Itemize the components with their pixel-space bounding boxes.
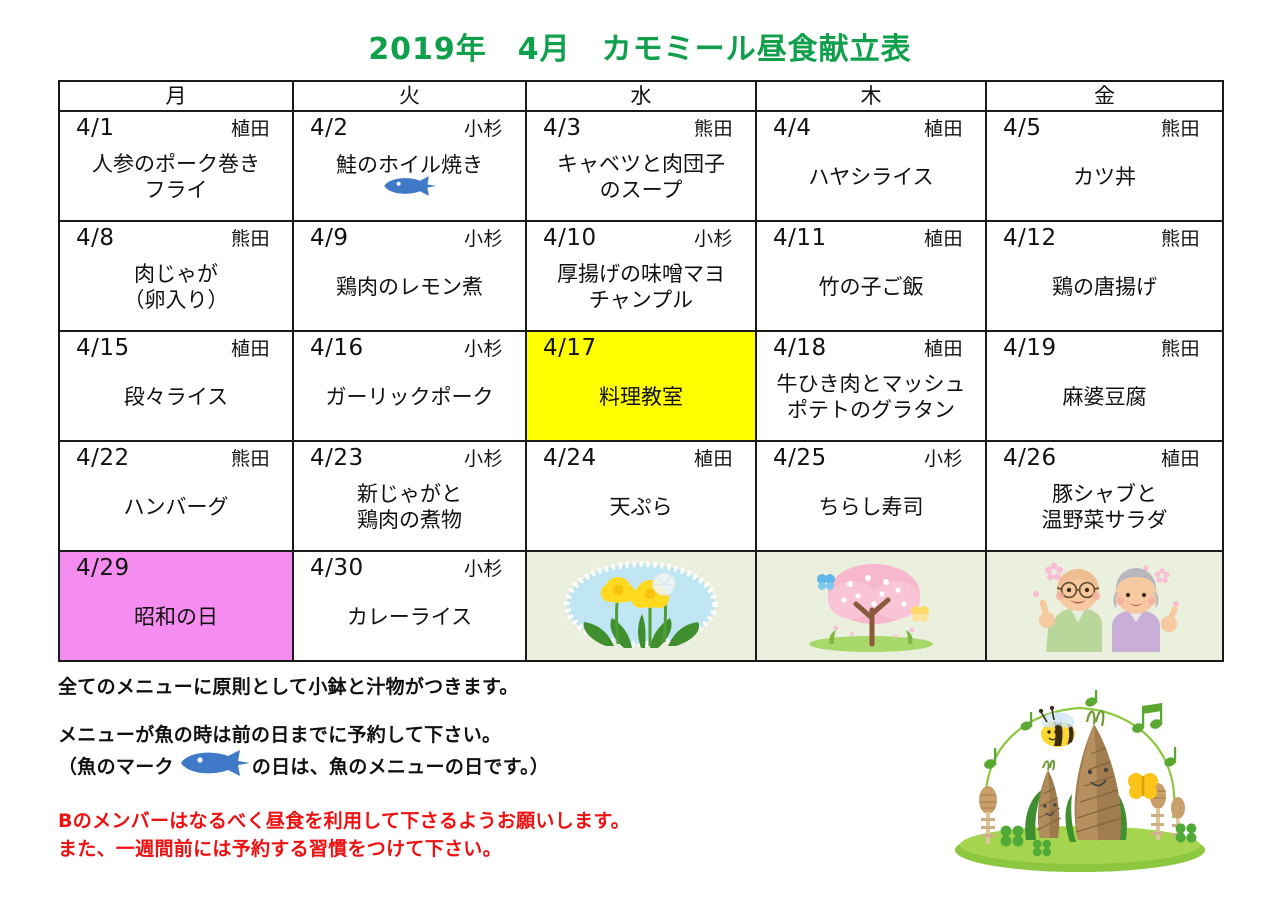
calendar-day-cell-4-29: 4/29昭和の日 xyxy=(59,551,293,661)
day-date: 4/23 xyxy=(310,445,364,471)
day-date: 4/17 xyxy=(543,335,597,361)
cherry-blossom-tree-illustration xyxy=(756,551,986,661)
day-staff-name: 小杉 xyxy=(464,226,507,252)
page-title: 2019年 4月 カモミール昼食献立表 xyxy=(0,24,1280,68)
day-cell-body: 4/18植田牛ひき肉とマッシュポテトのグラタン xyxy=(757,332,985,440)
illustration-wrapper xyxy=(527,552,755,660)
day-cell-body: 4/2小杉鮭のホイル焼き xyxy=(294,112,525,220)
day-date: 4/2 xyxy=(310,115,349,141)
menu-line: 人参のポーク巻き xyxy=(92,151,260,177)
note-b-members: Bのメンバーはなるべく昼食を利用して下さるようお願いします。 xyxy=(58,807,818,835)
day-menu: 料理教室 xyxy=(537,361,745,436)
calendar-day-cell-4-30: 4/30小杉カレーライス xyxy=(293,551,526,661)
menu-line: ちらし寿司 xyxy=(819,494,924,520)
column-header-tuesday: 火 xyxy=(293,81,526,111)
calendar-day-cell-4-24: 4/24植田天ぷら xyxy=(526,441,756,551)
menu-line: カレーライス xyxy=(347,604,472,630)
day-cell-body: 4/30小杉カレーライス xyxy=(294,552,525,660)
calendar-day-cell-4-4: 4/4植田ハヤシライス xyxy=(756,111,986,221)
day-header: 4/18植田 xyxy=(767,335,975,362)
calendar-week-row: 4/22熊田ハンバーグ4/23小杉新じゃがと鶏肉の煮物4/24植田天ぷら4/25… xyxy=(59,441,1223,551)
day-header: 4/17 xyxy=(537,335,745,361)
fish-icon xyxy=(382,176,438,202)
calendar-day-cell-4-5: 4/5熊田カツ丼 xyxy=(986,111,1223,221)
day-menu: 天ぷら xyxy=(537,472,745,546)
menu-calendar-table: 月 火 水 木 金 4/1植田人参のポーク巻きフライ4/2小杉鮭のホイル焼き4/… xyxy=(58,80,1224,662)
menu-line: フライ xyxy=(145,177,208,203)
day-staff-name: 小杉 xyxy=(464,336,507,362)
day-header: 4/2小杉 xyxy=(304,115,515,142)
day-header: 4/4植田 xyxy=(767,115,975,142)
menu-line: のスープ xyxy=(600,177,683,203)
day-cell-body: 4/8熊田肉じゃが（卵入り） xyxy=(60,222,292,330)
day-date: 4/29 xyxy=(76,555,130,581)
day-cell-body: 4/16小杉ガーリックポーク xyxy=(294,332,525,440)
menu-line: 料理教室 xyxy=(599,384,683,410)
day-staff-name: 小杉 xyxy=(464,556,507,582)
day-date: 4/18 xyxy=(773,335,827,361)
day-cell-body: 4/12熊田鶏の唐揚げ xyxy=(987,222,1222,330)
day-menu: 牛ひき肉とマッシュポテトのグラタン xyxy=(767,362,975,436)
menu-line: 鮭のホイル焼き xyxy=(336,152,483,178)
menu-line: キャベツと肉団子 xyxy=(557,151,725,177)
day-cell-body: 4/4植田ハヤシライス xyxy=(757,112,985,220)
day-staff-name: 熊田 xyxy=(231,446,274,472)
calendar-day-cell-4-16: 4/16小杉ガーリックポーク xyxy=(293,331,526,441)
day-header: 4/30小杉 xyxy=(304,555,515,582)
calendar-day-cell-4-25: 4/25小杉ちらし寿司 xyxy=(756,441,986,551)
day-date: 4/24 xyxy=(543,445,597,471)
day-staff-name: 植田 xyxy=(924,336,967,362)
menu-line: 鶏肉の煮物 xyxy=(357,507,462,533)
day-date: 4/1 xyxy=(76,115,115,141)
calendar-day-cell-4-22: 4/22熊田ハンバーグ xyxy=(59,441,293,551)
fish-icon xyxy=(178,750,252,781)
menu-line: ハンバーグ xyxy=(124,494,229,520)
calendar-day-cell-4-3: 4/3熊田キャベツと肉団子のスープ xyxy=(526,111,756,221)
day-header: 4/1植田 xyxy=(70,115,282,142)
day-menu: カレーライス xyxy=(304,582,515,656)
day-cell-body: 4/19熊田麻婆豆腐 xyxy=(987,332,1222,440)
calendar-day-cell-4-10: 4/10小杉厚揚げの味噌マヨチャンプル xyxy=(526,221,756,331)
illustration-wrapper xyxy=(757,552,985,660)
day-menu: カツ丼 xyxy=(997,142,1212,216)
calendar-day-cell-4-15: 4/15植田段々ライス xyxy=(59,331,293,441)
day-cell-body: 4/10小杉厚揚げの味噌マヨチャンプル xyxy=(527,222,755,330)
menu-line: （卵入り） xyxy=(124,287,229,313)
day-staff-name: 熊田 xyxy=(694,116,737,142)
menu-line: 厚揚げの味噌マヨ xyxy=(557,261,725,287)
day-header: 4/29 xyxy=(70,555,282,581)
day-date: 4/25 xyxy=(773,445,827,471)
note-fish-mark-prefix: （魚のマーク xyxy=(58,752,174,779)
day-date: 4/22 xyxy=(76,445,130,471)
day-menu: 鮭のホイル焼き xyxy=(304,142,515,216)
day-header: 4/22熊田 xyxy=(70,445,282,472)
day-cell-body: 4/29昭和の日 xyxy=(60,552,292,660)
menu-line: 温野菜サラダ xyxy=(1042,507,1168,533)
day-date: 4/26 xyxy=(1003,445,1057,471)
day-menu: ちらし寿司 xyxy=(767,472,975,546)
day-menu: 肉じゃが（卵入り） xyxy=(70,252,282,326)
day-header: 4/16小杉 xyxy=(304,335,515,362)
dandelion-illustration xyxy=(526,551,756,661)
day-date: 4/9 xyxy=(310,225,349,251)
note-fish-mark-suffix: の日は、魚のメニューの日です。） xyxy=(252,752,549,779)
calendar-day-cell-4-12: 4/12熊田鶏の唐揚げ xyxy=(986,221,1223,331)
calendar-day-cell-4-11: 4/11植田竹の子ご飯 xyxy=(756,221,986,331)
day-header: 4/25小杉 xyxy=(767,445,975,472)
column-header-monday: 月 xyxy=(59,81,293,111)
day-menu: 人参のポーク巻きフライ xyxy=(70,142,282,216)
yellow-butterfly-icon xyxy=(911,606,929,622)
day-date: 4/4 xyxy=(773,115,812,141)
day-header: 4/3熊田 xyxy=(537,115,745,142)
day-date: 4/3 xyxy=(543,115,582,141)
menu-line: 新じゃがと xyxy=(357,481,462,507)
calendar-day-cell-4-18: 4/18植田牛ひき肉とマッシュポテトのグラタン xyxy=(756,331,986,441)
menu-line: チャンプル xyxy=(589,287,693,313)
day-header: 4/23小杉 xyxy=(304,445,515,472)
note-side-dishes: 全てのメニューに原則として小鉢と汁物がつきます。 xyxy=(58,672,818,702)
column-header-thursday: 木 xyxy=(756,81,986,111)
butterfly-icon xyxy=(1128,773,1158,799)
day-cell-body: 4/22熊田ハンバーグ xyxy=(60,442,292,550)
day-header: 4/5熊田 xyxy=(997,115,1212,142)
day-header: 4/19熊田 xyxy=(997,335,1212,362)
day-staff-name: 熊田 xyxy=(1161,116,1204,142)
day-date: 4/16 xyxy=(310,335,364,361)
day-menu: ガーリックポーク xyxy=(304,362,515,436)
day-cell-body: 4/25小杉ちらし寿司 xyxy=(757,442,985,550)
day-menu: 昭和の日 xyxy=(70,581,282,656)
calendar-week-row: 4/29昭和の日4/30小杉カレーライス xyxy=(59,551,1223,661)
day-staff-name: 小杉 xyxy=(694,226,737,252)
day-date: 4/5 xyxy=(1003,115,1042,141)
day-menu: 新じゃがと鶏肉の煮物 xyxy=(304,472,515,546)
day-menu: 麻婆豆腐 xyxy=(997,362,1212,436)
day-cell-body: 4/11植田竹の子ご飯 xyxy=(757,222,985,330)
day-cell-body: 4/26植田豚シャブと温野菜サラダ xyxy=(987,442,1222,550)
day-cell-body: 4/24植田天ぷら xyxy=(527,442,755,550)
table-header-row: 月 火 水 木 金 xyxy=(59,81,1223,111)
calendar-body: 4/1植田人参のポーク巻きフライ4/2小杉鮭のホイル焼き4/3熊田キャベツと肉団… xyxy=(59,111,1223,661)
menu-line: ガーリックポーク xyxy=(326,384,494,410)
day-header: 4/8熊田 xyxy=(70,225,282,252)
day-staff-name: 小杉 xyxy=(464,116,507,142)
note-fish-reservation: メニューが魚の時は前の日までに予約して下さい。 xyxy=(58,720,818,750)
menu-line: 天ぷら xyxy=(610,494,673,520)
calendar-day-cell-4-1: 4/1植田人参のポーク巻きフライ xyxy=(59,111,293,221)
calendar-day-cell-4-8: 4/8熊田肉じゃが（卵入り） xyxy=(59,221,293,331)
day-header: 4/10小杉 xyxy=(537,225,745,252)
day-staff-name: 小杉 xyxy=(924,446,967,472)
day-menu: 鶏肉のレモン煮 xyxy=(304,252,515,326)
day-cell-body: 4/9小杉鶏肉のレモン煮 xyxy=(294,222,525,330)
day-header: 4/24植田 xyxy=(537,445,745,472)
day-staff-name: 熊田 xyxy=(1161,226,1204,252)
menu-line: 昭和の日 xyxy=(134,604,218,630)
menu-line: 麻婆豆腐 xyxy=(1063,384,1147,410)
day-staff-name: 植田 xyxy=(231,336,274,362)
calendar-week-row: 4/8熊田肉じゃが（卵入り）4/9小杉鶏肉のレモン煮4/10小杉厚揚げの味噌マヨ… xyxy=(59,221,1223,331)
day-cell-body: 4/1植田人参のポーク巻きフライ xyxy=(60,112,292,220)
day-header: 4/26植田 xyxy=(997,445,1212,472)
day-cell-body: 4/3熊田キャベツと肉団子のスープ xyxy=(527,112,755,220)
note-fish-mark-legend: （魚のマーク の日は、魚のメニューの日です。） xyxy=(58,750,818,781)
calendar-week-row: 4/1植田人参のポーク巻きフライ4/2小杉鮭のホイル焼き4/3熊田キャベツと肉団… xyxy=(59,111,1223,221)
day-header: 4/9小杉 xyxy=(304,225,515,252)
day-staff-name: 植田 xyxy=(924,116,967,142)
menu-line: 鶏の唐揚げ xyxy=(1052,274,1157,300)
day-date: 4/19 xyxy=(1003,335,1057,361)
calendar-day-cell-4-9: 4/9小杉鶏肉のレモン煮 xyxy=(293,221,526,331)
day-header: 4/11植田 xyxy=(767,225,975,252)
calendar-day-cell-4-26: 4/26植田豚シャブと温野菜サラダ xyxy=(986,441,1223,551)
illustration-wrapper xyxy=(987,552,1222,660)
calendar-day-cell-4-19: 4/19熊田麻婆豆腐 xyxy=(986,331,1223,441)
day-staff-name: 植田 xyxy=(231,116,274,142)
menu-line: カツ丼 xyxy=(1073,164,1136,190)
menu-line: ポテトのグラタン xyxy=(787,397,955,423)
menu-line: 肉じゃが xyxy=(134,261,218,287)
day-menu: 厚揚げの味噌マヨチャンプル xyxy=(537,252,745,326)
day-cell-body: 4/15植田段々ライス xyxy=(60,332,292,440)
day-date: 4/11 xyxy=(773,225,827,251)
day-header: 4/12熊田 xyxy=(997,225,1212,252)
day-menu: ハンバーグ xyxy=(70,472,282,546)
day-cell-body: 4/5熊田カツ丼 xyxy=(987,112,1222,220)
calendar-day-cell-4-17: 4/17料理教室 xyxy=(526,331,756,441)
column-header-wednesday: 水 xyxy=(526,81,756,111)
day-date: 4/15 xyxy=(76,335,130,361)
menu-line: ハヤシライス xyxy=(808,164,933,190)
day-staff-name: 植田 xyxy=(924,226,967,252)
day-date: 4/10 xyxy=(543,225,597,251)
day-menu: 豚シャブと温野菜サラダ xyxy=(997,472,1212,546)
day-staff-name: 熊田 xyxy=(1161,336,1204,362)
calendar-week-row: 4/15植田段々ライス4/16小杉ガーリックポーク4/17料理教室4/18植田牛… xyxy=(59,331,1223,441)
day-menu: 鶏の唐揚げ xyxy=(997,252,1212,326)
calendar-day-cell-4-23: 4/23小杉新じゃがと鶏肉の煮物 xyxy=(293,441,526,551)
blue-butterfly-icon xyxy=(817,574,835,590)
day-date: 4/8 xyxy=(76,225,115,251)
day-menu: 段々ライス xyxy=(70,362,282,436)
day-staff-name: 小杉 xyxy=(464,446,507,472)
footer-notes: 全てのメニューに原則として小鉢と汁物がつきます。 メニューが魚の時は前の日までに… xyxy=(58,672,818,863)
day-menu: 竹の子ご飯 xyxy=(767,252,975,326)
day-staff-name: 植田 xyxy=(694,446,737,472)
note-advance-booking: また、一週間前には予約する習慣をつけて下さい。 xyxy=(58,835,818,863)
day-date: 4/30 xyxy=(310,555,364,581)
day-menu: キャベツと肉団子のスープ xyxy=(537,142,745,216)
day-cell-body: 4/23小杉新じゃがと鶏肉の煮物 xyxy=(294,442,525,550)
day-cell-body: 4/17料理教室 xyxy=(527,332,755,440)
day-menu: ハヤシライス xyxy=(767,142,975,216)
menu-line: 豚シャブと xyxy=(1052,481,1157,507)
menu-line: 段々ライス xyxy=(124,384,228,410)
day-header: 4/15植田 xyxy=(70,335,282,362)
note-red-block: Bのメンバーはなるべく昼食を利用して下さるようお願いします。 また、一週間前には… xyxy=(58,807,818,863)
day-staff-name: 植田 xyxy=(1161,446,1204,472)
column-header-friday: 金 xyxy=(986,81,1223,111)
day-date: 4/12 xyxy=(1003,225,1057,251)
menu-line: 牛ひき肉とマッシュ xyxy=(777,371,966,397)
bamboo-shoots-illustration xyxy=(930,690,1230,880)
elderly-couple-illustration xyxy=(986,551,1223,661)
day-staff-name: 熊田 xyxy=(231,226,274,252)
calendar-day-cell-4-2: 4/2小杉鮭のホイル焼き xyxy=(293,111,526,221)
menu-line: 鶏肉のレモン煮 xyxy=(336,274,483,300)
menu-line: 竹の子ご飯 xyxy=(819,274,924,300)
